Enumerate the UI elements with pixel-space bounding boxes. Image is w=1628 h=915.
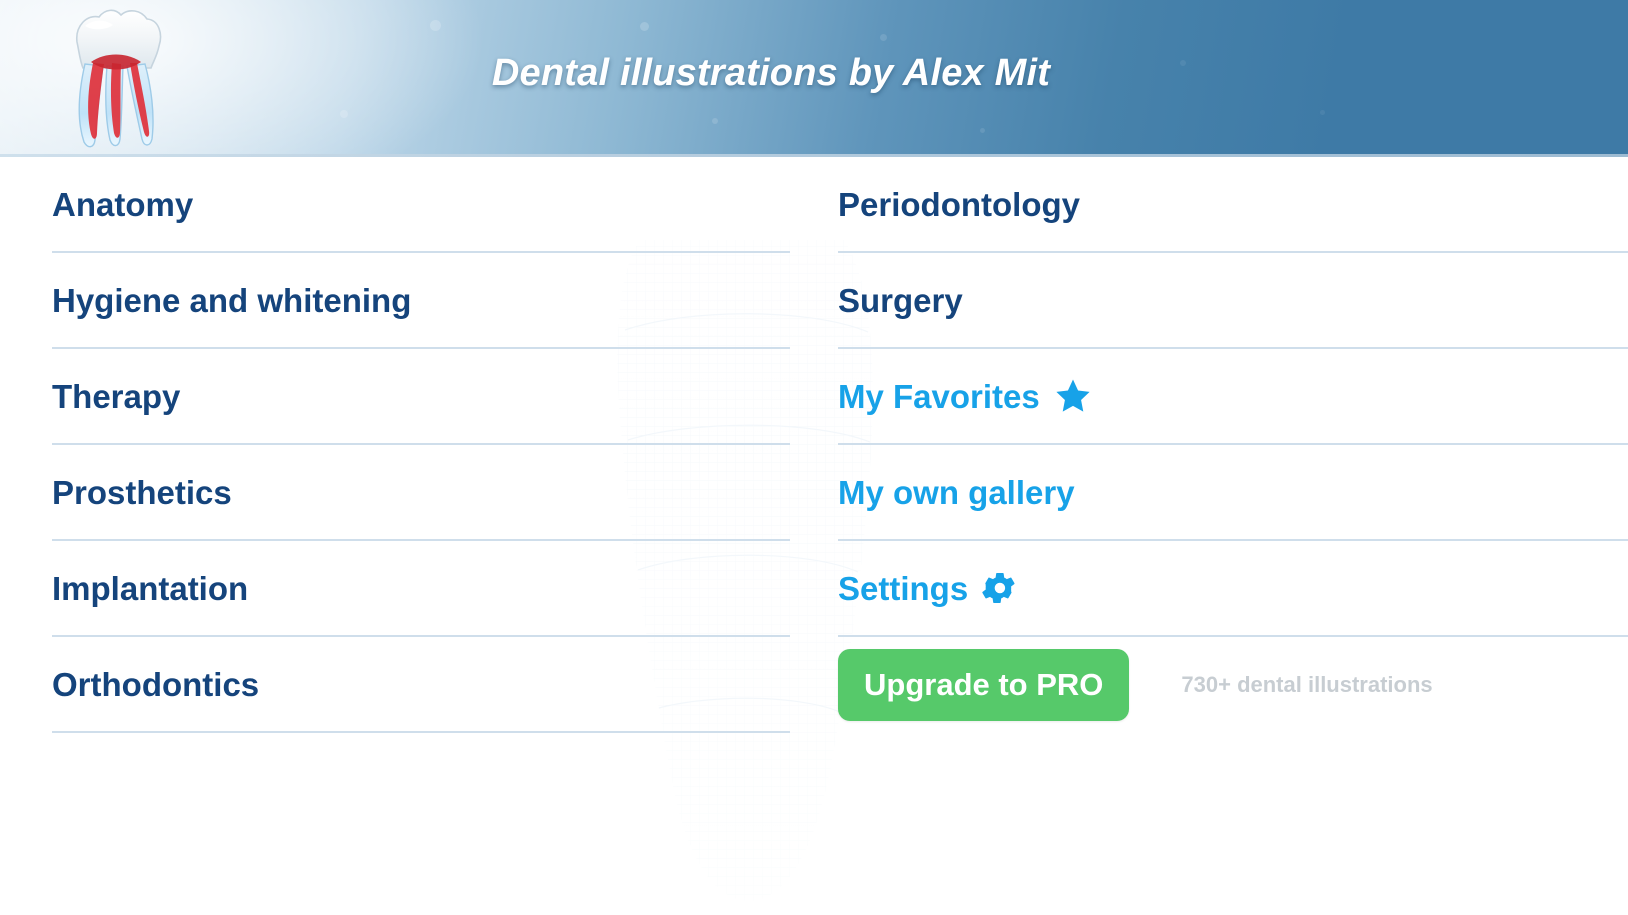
- gear-icon: [982, 570, 1018, 606]
- menu-item-my-own-gallery[interactable]: My own gallery: [838, 445, 1628, 539]
- menu-item-prosthetics[interactable]: Prosthetics: [52, 445, 790, 539]
- main-menu: Anatomy Hygiene and whitening Therapy Pr…: [0, 157, 1628, 900]
- header-speck: [430, 20, 441, 31]
- menu-item-label: Prosthetics: [52, 476, 232, 509]
- header-speck: [712, 118, 718, 124]
- menu-item-settings[interactable]: Settings: [838, 541, 1628, 635]
- pro-row: Upgrade to PRO 730+ dental illustrations: [838, 637, 1628, 733]
- header-speck: [1320, 110, 1325, 115]
- menu-item-label: Orthodontics: [52, 668, 259, 701]
- menu-divider: [52, 731, 790, 733]
- header-speck: [340, 110, 348, 118]
- page-title: Dental illustrations by Alex Mit: [0, 52, 1542, 95]
- menu-column-left: Anatomy Hygiene and whitening Therapy Pr…: [52, 157, 790, 733]
- header-speck: [980, 128, 985, 133]
- menu-item-label: Hygiene and whitening: [52, 284, 411, 317]
- menu-item-my-favorites[interactable]: My Favorites: [838, 349, 1628, 443]
- menu-item-anatomy[interactable]: Anatomy: [52, 157, 790, 251]
- menu-item-label: Periodontology: [838, 188, 1080, 221]
- app-header: Dental illustrations by Alex Mit: [0, 0, 1628, 157]
- menu-item-label: Therapy: [52, 380, 180, 413]
- menu-item-label: Surgery: [838, 284, 963, 317]
- upgrade-to-pro-button[interactable]: Upgrade to PRO: [838, 649, 1129, 721]
- menu-item-periodontology[interactable]: Periodontology: [838, 157, 1628, 251]
- menu-item-label: My Favorites: [838, 380, 1040, 413]
- menu-column-right: Periodontology Surgery My Favorites My o…: [838, 157, 1628, 733]
- header-speck: [880, 34, 887, 41]
- menu-item-implantation[interactable]: Implantation: [52, 541, 790, 635]
- menu-item-hygiene-and-whitening[interactable]: Hygiene and whitening: [52, 253, 790, 347]
- menu-item-surgery[interactable]: Surgery: [838, 253, 1628, 347]
- menu-item-label: Anatomy: [52, 188, 193, 221]
- menu-item-label: Implantation: [52, 572, 248, 605]
- menu-item-orthodontics[interactable]: Orthodontics: [52, 637, 790, 731]
- pro-illustration-count: 730+ dental illustrations: [1181, 672, 1432, 698]
- menu-item-label: My own gallery: [838, 476, 1075, 509]
- star-icon: [1054, 377, 1092, 415]
- header-speck: [640, 22, 649, 31]
- menu-item-label: Settings: [838, 572, 968, 605]
- menu-item-therapy[interactable]: Therapy: [52, 349, 790, 443]
